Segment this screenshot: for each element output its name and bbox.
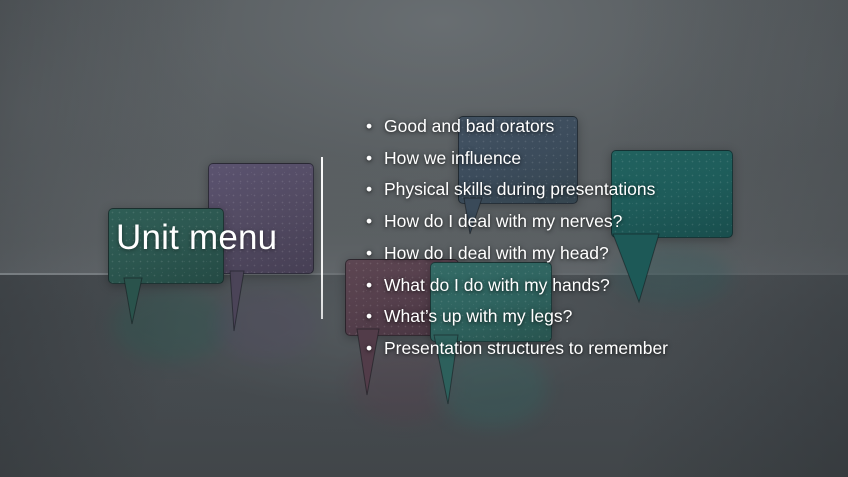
presentation-slide: Unit menu Good and bad orators How we in… xyxy=(0,0,848,477)
list-item: What’s up with my legs? xyxy=(366,301,668,333)
list-item: How do I deal with my head? xyxy=(366,238,668,270)
list-item: Presentation structures to remember xyxy=(366,333,668,365)
page-title: Unit menu xyxy=(116,218,277,258)
bullet-list: Good and bad orators How we influence Ph… xyxy=(366,111,668,365)
list-item: Good and bad orators xyxy=(366,111,668,143)
list-item: What do I do with my hands? xyxy=(366,270,668,302)
list-item: Physical skills during presentations xyxy=(366,174,668,206)
list-item: How we influence xyxy=(366,143,668,175)
vertical-divider-line xyxy=(321,157,323,319)
list-item: How do I deal with my nerves? xyxy=(366,206,668,238)
